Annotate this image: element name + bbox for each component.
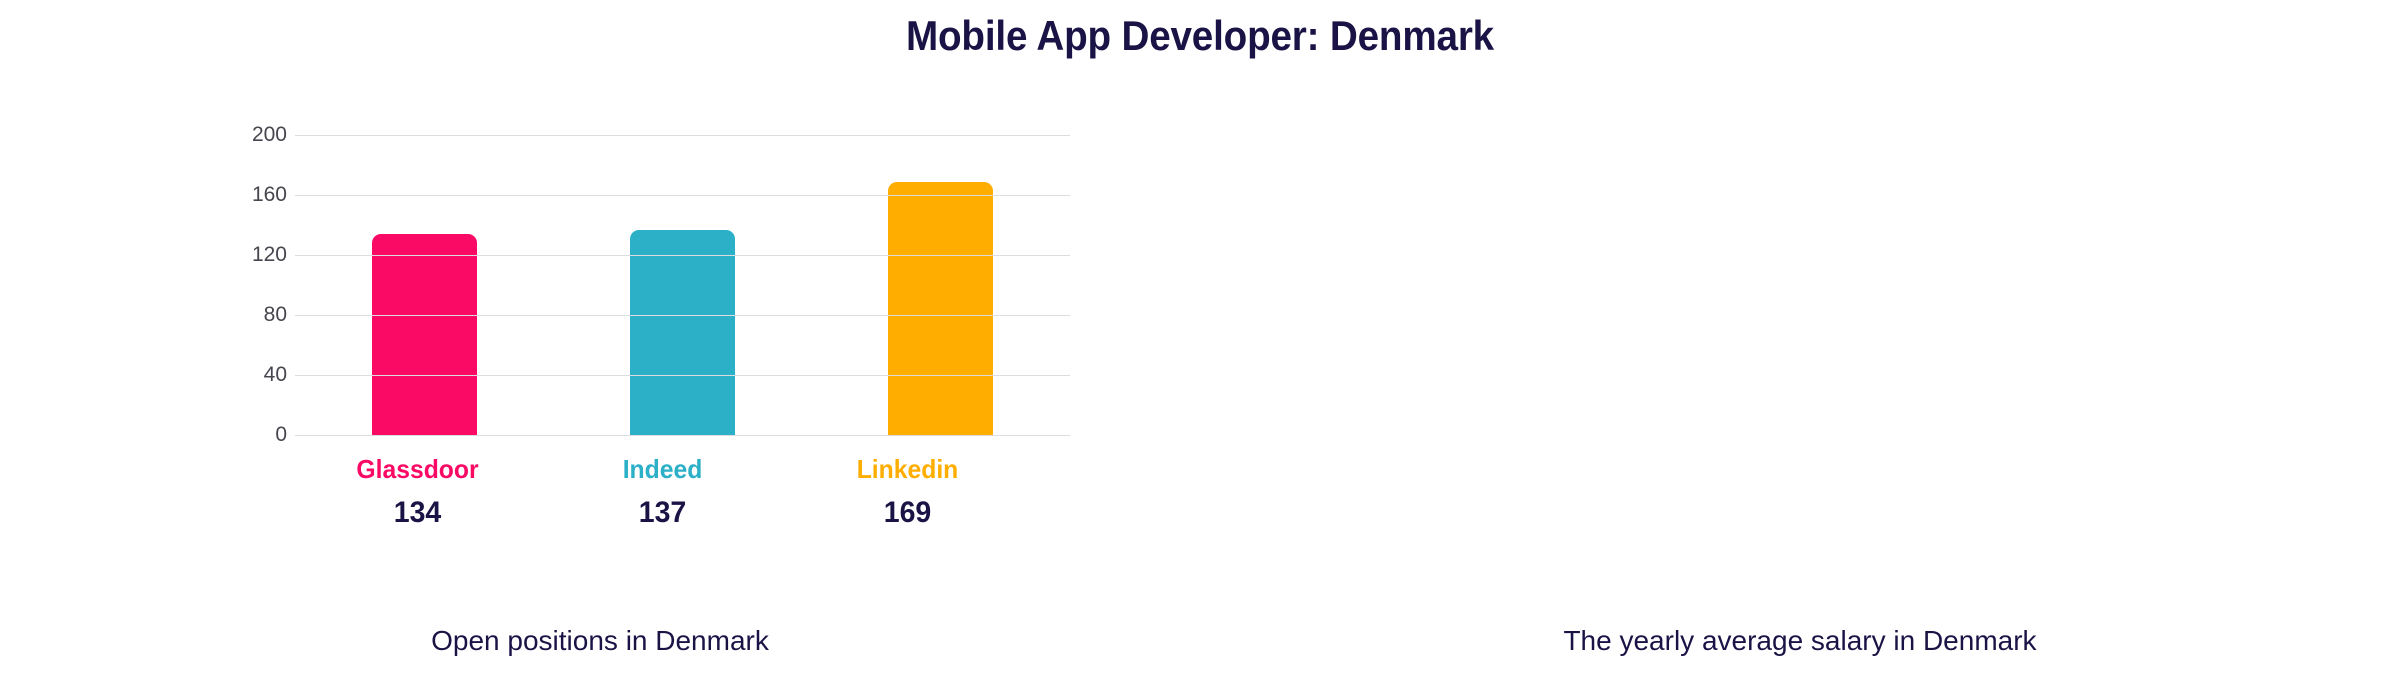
gridline (295, 135, 1070, 136)
gridline (295, 255, 1070, 256)
bar-slot (812, 135, 1070, 435)
gridline (295, 375, 1070, 376)
legend-item: Linkedin169 (785, 455, 1030, 530)
y-axis-tick-label: 0 (275, 423, 287, 447)
legend-value: 134 (301, 496, 534, 531)
caption-average-salary: The yearly average salary in Denmark (1200, 625, 2400, 657)
bar-slot (553, 135, 811, 435)
y-axis-tick-label: 200 (252, 123, 287, 147)
bar-indeed[interactable] (630, 230, 735, 436)
bar-glassdoor[interactable] (372, 234, 477, 435)
legend-open-positions: Glassdoor134Indeed137Linkedin169 (295, 455, 1030, 530)
bar-slot (295, 135, 553, 435)
y-axis-tick-label: 120 (252, 243, 287, 267)
legend-label: Glassdoor (301, 455, 534, 485)
bar-linkedin[interactable] (888, 182, 993, 436)
gridline (295, 315, 1070, 316)
plot-area-open-positions: 04080120160200 (175, 135, 1085, 435)
legend-value: 137 (546, 496, 779, 531)
bar-series-open-positions (295, 135, 1070, 435)
legend-label: Linkedin (791, 455, 1024, 485)
chart-panel-average-salary: $0$28,000$56,000$84,000$112,000$140,000 … (1200, 0, 2400, 685)
gridlines-open-positions (295, 135, 1070, 435)
gridline (295, 195, 1070, 196)
chart-panel-open-positions: 04080120160200 Glassdoor134Indeed137Link… (0, 0, 1200, 685)
legend-label: Indeed (546, 455, 779, 485)
legend-value: 169 (791, 496, 1024, 531)
y-axis-tick-label: 160 (252, 183, 287, 207)
y-axis-tick-label: 80 (264, 303, 287, 327)
y-axis-tick-label: 40 (264, 363, 287, 387)
y-axis-open-positions: 04080120160200 (175, 135, 295, 435)
legend-item: Glassdoor134 (295, 455, 540, 530)
gridline (295, 435, 1070, 436)
caption-open-positions: Open positions in Denmark (0, 625, 1200, 657)
legend-item: Indeed137 (540, 455, 785, 530)
charts-container: 04080120160200 Glassdoor134Indeed137Link… (0, 0, 2400, 685)
